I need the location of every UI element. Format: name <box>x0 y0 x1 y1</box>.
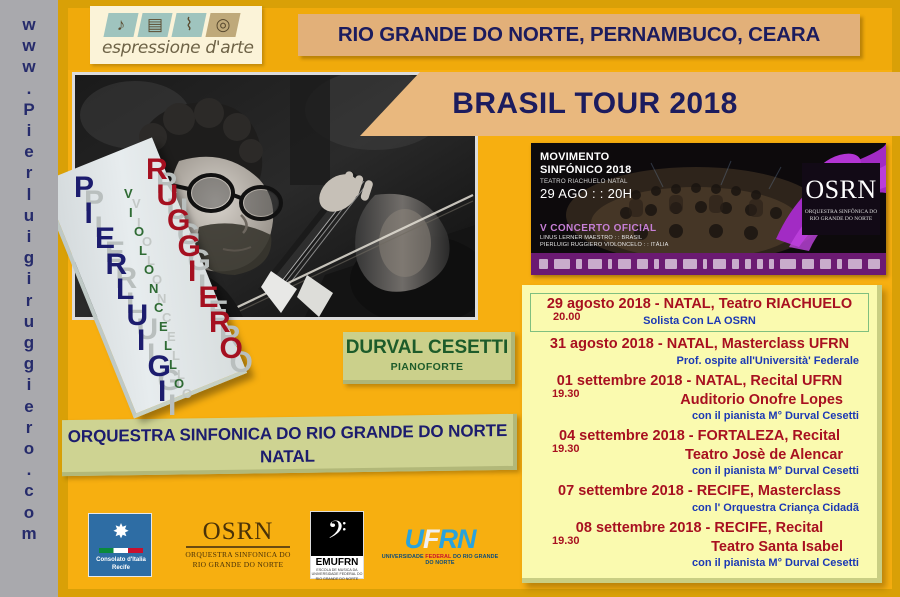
website-url-char: w <box>0 35 58 56</box>
sponsor-chip-icon <box>588 259 602 269</box>
ufrn-letters-rn: RN <box>439 524 476 554</box>
artist-first-name-letter: I <box>85 199 93 229</box>
emufrn-logo[interactable]: 𝄢 EMUFRN ESCOLA DE MUSICA DA UNIVERSIDAD… <box>310 511 364 579</box>
tour-date-venue: Auditorio Onofre Lopes <box>530 391 869 409</box>
tour-date-time: 20.00 <box>553 311 581 323</box>
artist-first-name-ghost-letter: I <box>168 391 176 421</box>
italy-emblem-icon: ✸ <box>89 522 153 542</box>
artist-instrument-letter: E <box>159 320 168 333</box>
tour-date-date: 04 settembre 2018 - <box>559 428 698 444</box>
tour-date-date: 07 settembre 2018 - <box>558 483 697 499</box>
orchestra-city: NATAL <box>62 444 513 470</box>
tour-date-headline: 08 settembre 2018 - RECIFE, Recital <box>530 518 869 538</box>
emufrn-acronym: EMUFRN <box>311 557 363 568</box>
sponsor-chip-icon <box>732 259 739 269</box>
tour-date-entry: 08 settembre 2018 - RECIFE, Recital19.30… <box>530 518 869 571</box>
ufrn-subtitle: UNIVERSIDADE FEDERAL DO RIO GRANDE DO NO… <box>380 554 500 566</box>
osrn-logo-subtitle: ORQUESTRA SINFONICA DO RIO GRANDE DO NOR… <box>178 550 298 570</box>
artist-instrument-letter: C <box>154 301 163 314</box>
tour-date-entry: 01 settembre 2018 - NATAL, Recital UFRN1… <box>530 371 869 424</box>
tour-date-note: con l' Orquestra Criança Cidadã <box>530 501 869 516</box>
music-note-glyph: ♪ <box>106 13 136 37</box>
artist-instrument-letter: O <box>174 377 184 390</box>
sponsor-chip-icon <box>820 259 831 269</box>
website-url-text: www.Pierluigiruggiero.com <box>0 14 58 544</box>
artist-instrument-letter: I <box>129 206 133 219</box>
website-url-char: m <box>0 523 58 544</box>
tour-date-venue: Teatro Josè de Alencar <box>530 446 869 464</box>
website-url-char: P <box>0 99 58 120</box>
bass-clef-icon: 𝄢 <box>311 512 363 556</box>
consolato-line2: Recife <box>89 564 153 572</box>
film-strip-glyph: ▤ <box>140 13 170 37</box>
website-url-strip[interactable]: www.Pierluigiruggiero.com <box>0 0 58 597</box>
ufrn-acronym: UFRN <box>380 525 500 553</box>
tour-date-place: RECIFE, Masterclass <box>697 483 841 499</box>
tour-title-banner: BRASIL TOUR 2018 <box>360 72 900 136</box>
artist-instrument-letter: L <box>164 339 172 352</box>
artist-name-card: PIERLUIGIRUGGIEROVIOLONCELLOPIERLUIGIRUG… <box>60 145 360 415</box>
espressione-tiles: ♪ ▤ ⌇ ◎ <box>104 12 250 38</box>
website-url-char: w <box>0 14 58 35</box>
film-strip-icon: ▤ <box>137 13 172 37</box>
osrn-banner-logo-sub2: RIO GRANDE DO NORTE <box>802 216 880 223</box>
osrn-logo-rule <box>186 546 290 548</box>
osrn-logo-acronym: OSRN <box>178 519 298 545</box>
artist-instrument-letter: O <box>134 225 144 238</box>
espressione-darte-logo[interactable]: ♪ ▤ ⌇ ◎ espressione d'arte <box>90 6 262 64</box>
tour-date-venue: Teatro Santa Isabel <box>530 538 869 556</box>
osrn-concert-banner[interactable]: MOVIMENTO SINFÓNICO 2018 TEATRO RIACHUEL… <box>531 143 886 275</box>
sponsor-chip-icon <box>539 259 548 269</box>
osrn-logo[interactable]: OSRN ORQUESTRA SINFONICA DO RIO GRANDE D… <box>178 519 298 570</box>
sponsor-chip-icon <box>703 259 707 269</box>
website-url-char: r <box>0 417 58 438</box>
orchestra-name: ORQUESTRA SINFONICA DO RIO GRANDE DO NOR… <box>62 421 513 447</box>
osrn-banner-venue: TEATRO RIACHUELO NATAL <box>540 178 628 185</box>
pianist-name: DURVAL CESETTI <box>343 337 511 359</box>
sponsor-chip-icon <box>654 259 659 269</box>
artist-name-card-surface <box>39 137 247 418</box>
artist-instrument-ghost-letter: V <box>132 197 141 210</box>
website-url-char: g <box>0 353 58 374</box>
artist-last-name-letter: I <box>188 257 196 287</box>
osrn-banner-concert-label: V CONCERTO OFICIAL <box>540 223 656 234</box>
website-url-char: l <box>0 184 58 205</box>
artist-instrument-letter: N <box>149 282 158 295</box>
osrn-banner-credit-conductor: LINUS LERNER MAESTRO : : BRASIL <box>540 235 642 241</box>
brush-icon: ⌇ <box>171 13 206 37</box>
tour-date-place: NATAL, Masterclass UFRN <box>667 336 849 352</box>
emufrn-subtitle: ESCOLA DE MUSICA DA UNIVERSIDADE FEDERAL… <box>311 568 363 581</box>
website-url-char: i <box>0 374 58 395</box>
sponsor-logos: ✸ Consolato d'Italia Recife OSRN ORQUEST… <box>80 505 500 585</box>
website-url-char: i <box>0 226 58 247</box>
artist-instrument-letter: V <box>124 187 133 200</box>
pianist-box: DURVAL CESETTI PIANOFORTE <box>343 332 515 384</box>
tour-date-date: 31 agosto 2018 - <box>550 336 667 352</box>
artist-first-name-letter: I <box>158 377 166 407</box>
website-url-char: g <box>0 247 58 268</box>
sponsor-chip-icon <box>802 259 814 269</box>
tour-date-entry: 31 agosto 2018 - NATAL, Masterclass UFRN… <box>530 334 869 369</box>
tour-date-note: con il pianista M° Durval Cesetti <box>530 464 869 479</box>
poster-canvas: www.Pierluigiruggiero.com ♪ ▤ ⌇ ◎ espres… <box>0 0 900 597</box>
website-url-char: . <box>0 78 58 99</box>
espressione-darte-wordmark: espressione d'arte <box>102 38 252 58</box>
ufrn-letter-f: F <box>423 524 439 554</box>
ufrn-sub-part1: UNIVERSIDADE <box>382 554 426 560</box>
website-url-char: u <box>0 205 58 226</box>
film-reel-glyph: ◎ <box>208 13 238 37</box>
tour-date-date: 29 agosto 2018 - <box>547 296 664 312</box>
consolato-label: Consolato d'Italia Recife <box>89 556 153 572</box>
osrn-banner-logo: OSRN ORQUESTRA SINFÔNICA DO RIO GRANDE D… <box>802 163 880 235</box>
osrn-logo-sub-line1: ORQUESTRA SINFONICA DO <box>178 550 298 560</box>
website-url-char: r <box>0 290 58 311</box>
tour-date-note: Solista Con LA OSRN <box>531 314 868 329</box>
consolato-italia-logo[interactable]: ✸ Consolato d'Italia Recife <box>88 513 152 577</box>
consolato-line1: Consolato d'Italia <box>89 556 153 564</box>
website-url-char: o <box>0 438 58 459</box>
tour-date-time: 19.30 <box>552 443 580 455</box>
sponsor-chip-icon <box>745 259 751 269</box>
tour-date-headline: 29 agosto 2018 - NATAL, Teatro RIACHUELO <box>531 294 868 314</box>
sponsor-chip-icon <box>618 259 631 269</box>
website-url-char: o <box>0 502 58 523</box>
tour-date-date: 08 settembre 2018 - <box>576 520 715 536</box>
sponsor-chip-icon <box>665 259 677 269</box>
osrn-title-line1: MOVIMENTO <box>540 151 631 164</box>
artist-instrument-letter: L <box>169 358 177 371</box>
film-reel-icon: ◎ <box>205 13 240 37</box>
sponsor-chip-icon <box>713 259 726 269</box>
italy-flag-icon <box>99 548 143 553</box>
tour-date-headline: 07 settembre 2018 - RECIFE, Masterclass <box>530 481 869 501</box>
brush-glyph: ⌇ <box>174 13 204 37</box>
osrn-banner-logo-sub: ORQUESTRA SINFÔNICA DO RIO GRANDE DO NOR… <box>802 209 880 223</box>
tour-date-headline: 04 settembre 2018 - FORTALEZA, Recital <box>530 426 869 446</box>
website-url-char: . <box>0 459 58 480</box>
ufrn-letter-u: U <box>405 524 424 554</box>
tour-date-note: Prof. ospite all'Università' Federale <box>530 354 869 369</box>
tour-date-entry: 29 agosto 2018 - NATAL, Teatro RIACHUELO… <box>530 293 869 332</box>
tour-date-time: 19.30 <box>552 535 580 547</box>
sponsor-chip-icon <box>868 259 880 269</box>
website-url-char: i <box>0 268 58 289</box>
orchestra-box: ORQUESTRA SINFONICA DO RIO GRANDE DO NOR… <box>62 414 517 476</box>
tour-date-place: RECIFE, Recital <box>714 520 823 536</box>
website-url-char: g <box>0 332 58 353</box>
osrn-title-line2: SINFÓNICO 2018 <box>540 164 631 177</box>
osrn-banner-logo-sub1: ORQUESTRA SINFÔNICA DO <box>802 209 880 216</box>
website-url-char: e <box>0 141 58 162</box>
tour-date-date: 01 settembre 2018 - <box>557 373 696 389</box>
tour-title-text: BRASIL TOUR 2018 <box>360 72 830 136</box>
osrn-banner-credit-soloist: PIERLUIGI RUGGIERO VIOLONCELO : : ITÁLIA <box>540 242 668 248</box>
osrn-sponsor-bar <box>531 253 886 275</box>
website-url-char: i <box>0 120 58 141</box>
ufrn-logo[interactable]: UFRN UNIVERSIDADE FEDERAL DO RIO GRANDE … <box>380 525 500 566</box>
website-url-char: e <box>0 396 58 417</box>
sponsor-chip-icon <box>608 259 612 269</box>
music-note-icon: ♪ <box>103 13 138 37</box>
sponsor-chip-icon <box>576 259 582 269</box>
tour-date-place: NATAL, Recital UFRN <box>695 373 842 389</box>
sponsor-chip-icon <box>554 259 570 269</box>
osrn-banner-date: 29 AGO : : 20H <box>540 186 632 201</box>
artist-instrument-letter: O <box>144 263 154 276</box>
osrn-banner-title: MOVIMENTO SINFÓNICO 2018 <box>540 151 631 176</box>
sponsor-chip-icon <box>848 259 862 269</box>
tour-date-place: NATAL, Teatro RIACHUELO <box>664 296 853 312</box>
website-url-char: r <box>0 162 58 183</box>
tour-date-headline: 31 agosto 2018 - NATAL, Masterclass UFRN <box>530 334 869 354</box>
tour-date-note: con il pianista M° Durval Cesetti <box>530 409 869 424</box>
website-url-char: c <box>0 480 58 501</box>
tour-date-time: 19.30 <box>552 388 580 400</box>
tour-date-note: con il pianista M° Durval Cesetti <box>530 556 869 571</box>
tour-date-entry: 07 settembre 2018 - RECIFE, Masterclassc… <box>530 481 869 516</box>
states-banner-text: RIO GRANDE DO NORTE, PERNAMBUCO, CEARA <box>298 14 860 56</box>
sponsor-chip-icon <box>637 259 648 269</box>
tour-date-headline: 01 settembre 2018 - NATAL, Recital UFRN <box>530 371 869 391</box>
pianist-role: PIANOFORTE <box>343 361 511 373</box>
sponsor-chip-icon <box>757 259 763 269</box>
sponsor-chip-icon <box>837 259 842 269</box>
website-url-char: w <box>0 56 58 77</box>
artist-first-name-letter: I <box>137 326 145 356</box>
tour-dates-panel: 29 agosto 2018 - NATAL, Teatro RIACHUELO… <box>522 285 882 583</box>
osrn-logo-sub-line2: RIO GRANDE DO NORTE <box>178 560 298 570</box>
tour-date-entry: 04 settembre 2018 - FORTALEZA, Recital19… <box>530 426 869 479</box>
sponsor-chip-icon <box>769 259 774 269</box>
artist-last-name-letter: O <box>220 334 243 364</box>
tour-date-place: FORTALEZA, Recital <box>698 428 840 444</box>
website-url-char: u <box>0 311 58 332</box>
sponsor-chip-icon <box>683 259 697 269</box>
states-banner: RIO GRANDE DO NORTE, PERNAMBUCO, CEARA <box>298 14 860 56</box>
sponsor-chip-icon <box>780 259 796 269</box>
osrn-banner-logo-acronym: OSRN <box>802 175 880 205</box>
artist-instrument-letter: L <box>139 244 147 257</box>
